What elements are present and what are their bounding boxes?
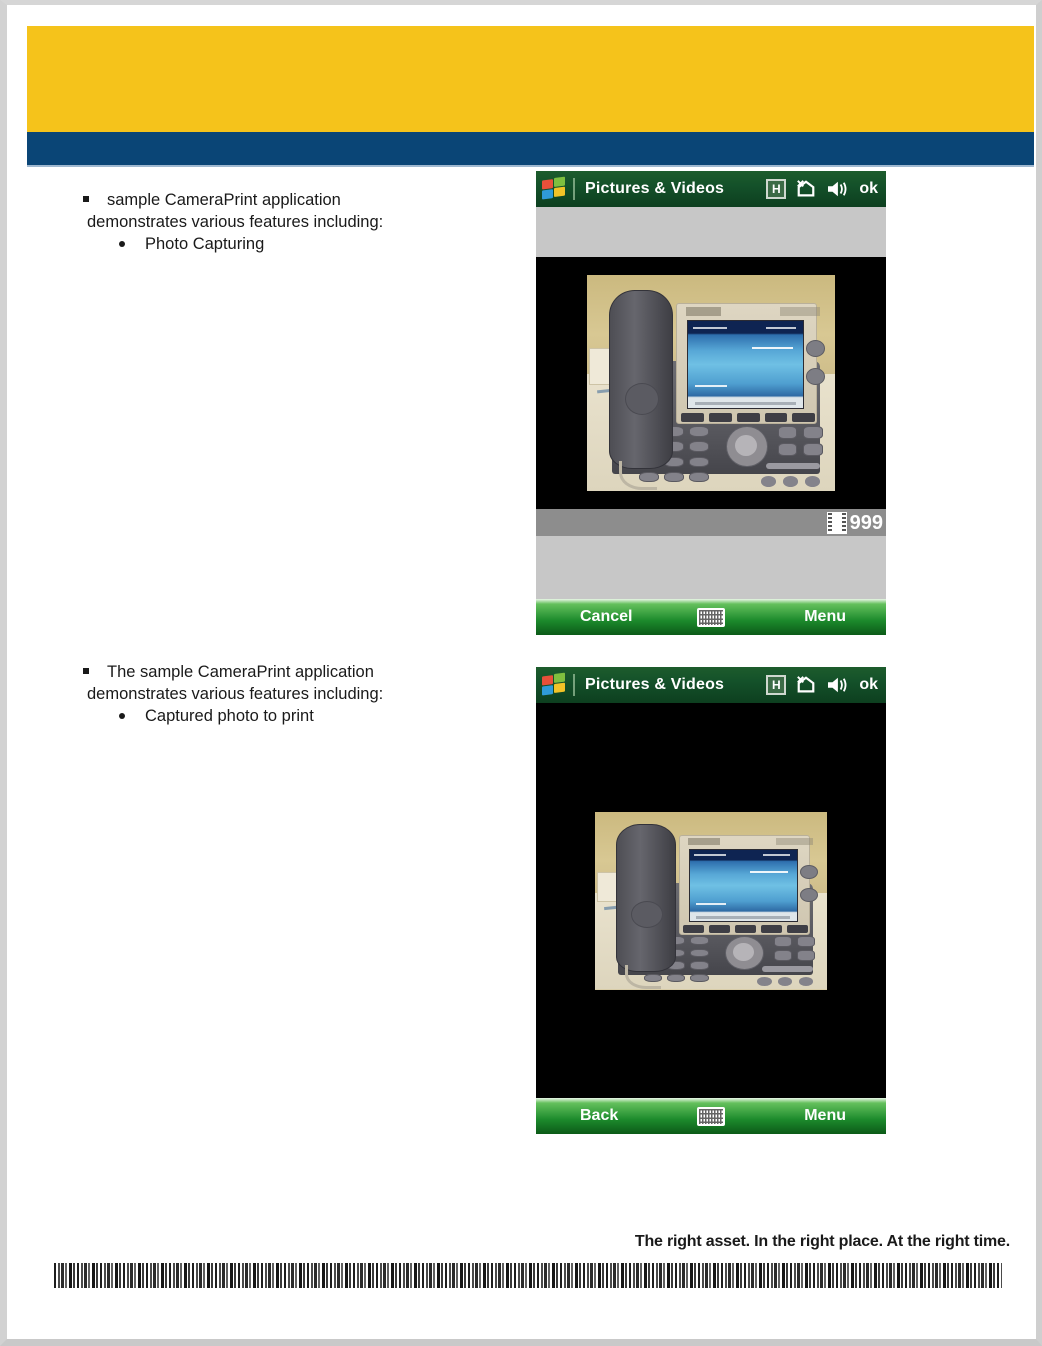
- page-sheet: sample CameraPrint application demonstra…: [7, 5, 1036, 1339]
- keyboard-icon[interactable]: [697, 1107, 725, 1126]
- menu-button[interactable]: Menu: [804, 1107, 846, 1125]
- menu-button[interactable]: Menu: [804, 608, 846, 626]
- round-bullet-icon: [119, 713, 125, 719]
- content-block-2: The sample CameraPrint application demon…: [73, 661, 503, 727]
- sub-bullet-label: Captured photo to print: [145, 707, 314, 725]
- camera-viewfinder[interactable]: [536, 257, 886, 509]
- film-strip-icon: [827, 512, 847, 534]
- shots-remaining-count: 999: [850, 513, 883, 533]
- back-button[interactable]: Back: [580, 1107, 618, 1125]
- bullet-line-2: demonstrates various features including:: [87, 211, 503, 233]
- round-bullet-icon: [119, 241, 125, 247]
- photo-preview-stage[interactable]: [536, 703, 886, 1098]
- content-block-1: sample CameraPrint application demonstra…: [73, 189, 503, 255]
- device-titlebar: Pictures & Videos H ok: [536, 667, 886, 703]
- shot-counter-bar: 999: [536, 509, 886, 536]
- header-yellow-band: [27, 26, 1034, 132]
- capture-bottom-gray-band: [536, 536, 886, 599]
- windows-logo-icon: [541, 672, 567, 697]
- ip-desk-phone-photo: [595, 812, 827, 990]
- speaker-icon[interactable]: [826, 676, 848, 694]
- device-softkey-bar: Cancel Menu: [536, 599, 886, 635]
- bullet-level1: The sample CameraPrint application demon…: [73, 661, 503, 705]
- device-screenshot-photo-preview: Pictures & Videos H ok: [536, 667, 886, 1134]
- bullet-line-1: The sample CameraPrint application: [107, 661, 503, 683]
- footer-tagline: The right asset. In the right place. At …: [635, 1233, 1010, 1251]
- capture-top-gray-band: [536, 207, 886, 257]
- bullet-line-1: sample CameraPrint application: [107, 189, 503, 211]
- header-blue-band: [27, 132, 1034, 167]
- titlebar-status-icons: H ok: [766, 675, 878, 695]
- device-softkey-bar: Back Menu: [536, 1098, 886, 1134]
- titlebar-divider: [573, 178, 575, 200]
- ok-button[interactable]: ok: [859, 676, 878, 694]
- sub-bullet-label: Photo Capturing: [145, 235, 264, 253]
- windows-logo-icon: [541, 176, 567, 201]
- titlebar-status-icons: H ok: [766, 179, 878, 199]
- device-title: Pictures & Videos: [585, 180, 724, 198]
- barcode-strip: [54, 1263, 1002, 1288]
- ip-desk-phone-photo: [587, 275, 835, 491]
- bullet-level2: Photo Capturing: [73, 233, 503, 255]
- hsdpa-indicator-icon[interactable]: H: [766, 675, 786, 695]
- bullet-line-2: demonstrates various features including:: [87, 683, 503, 705]
- titlebar-divider: [573, 674, 575, 696]
- bullet-level2: Captured photo to print: [73, 705, 503, 727]
- cancel-button[interactable]: Cancel: [580, 608, 632, 626]
- hsdpa-indicator-icon[interactable]: H: [766, 179, 786, 199]
- bullet-level1: sample CameraPrint application demonstra…: [73, 189, 503, 233]
- device-screenshot-camera-capture: Pictures & Videos H ok: [536, 171, 886, 635]
- device-title: Pictures & Videos: [585, 676, 724, 694]
- keyboard-icon[interactable]: [697, 608, 725, 627]
- speaker-icon[interactable]: [826, 180, 848, 198]
- device-titlebar: Pictures & Videos H ok: [536, 171, 886, 207]
- square-bullet-icon: [83, 668, 89, 674]
- document-page: sample CameraPrint application demonstra…: [0, 0, 1042, 1346]
- square-bullet-icon: [83, 196, 89, 202]
- connectivity-off-icon[interactable]: [795, 179, 817, 199]
- ok-button[interactable]: ok: [859, 180, 878, 198]
- connectivity-off-icon[interactable]: [795, 675, 817, 695]
